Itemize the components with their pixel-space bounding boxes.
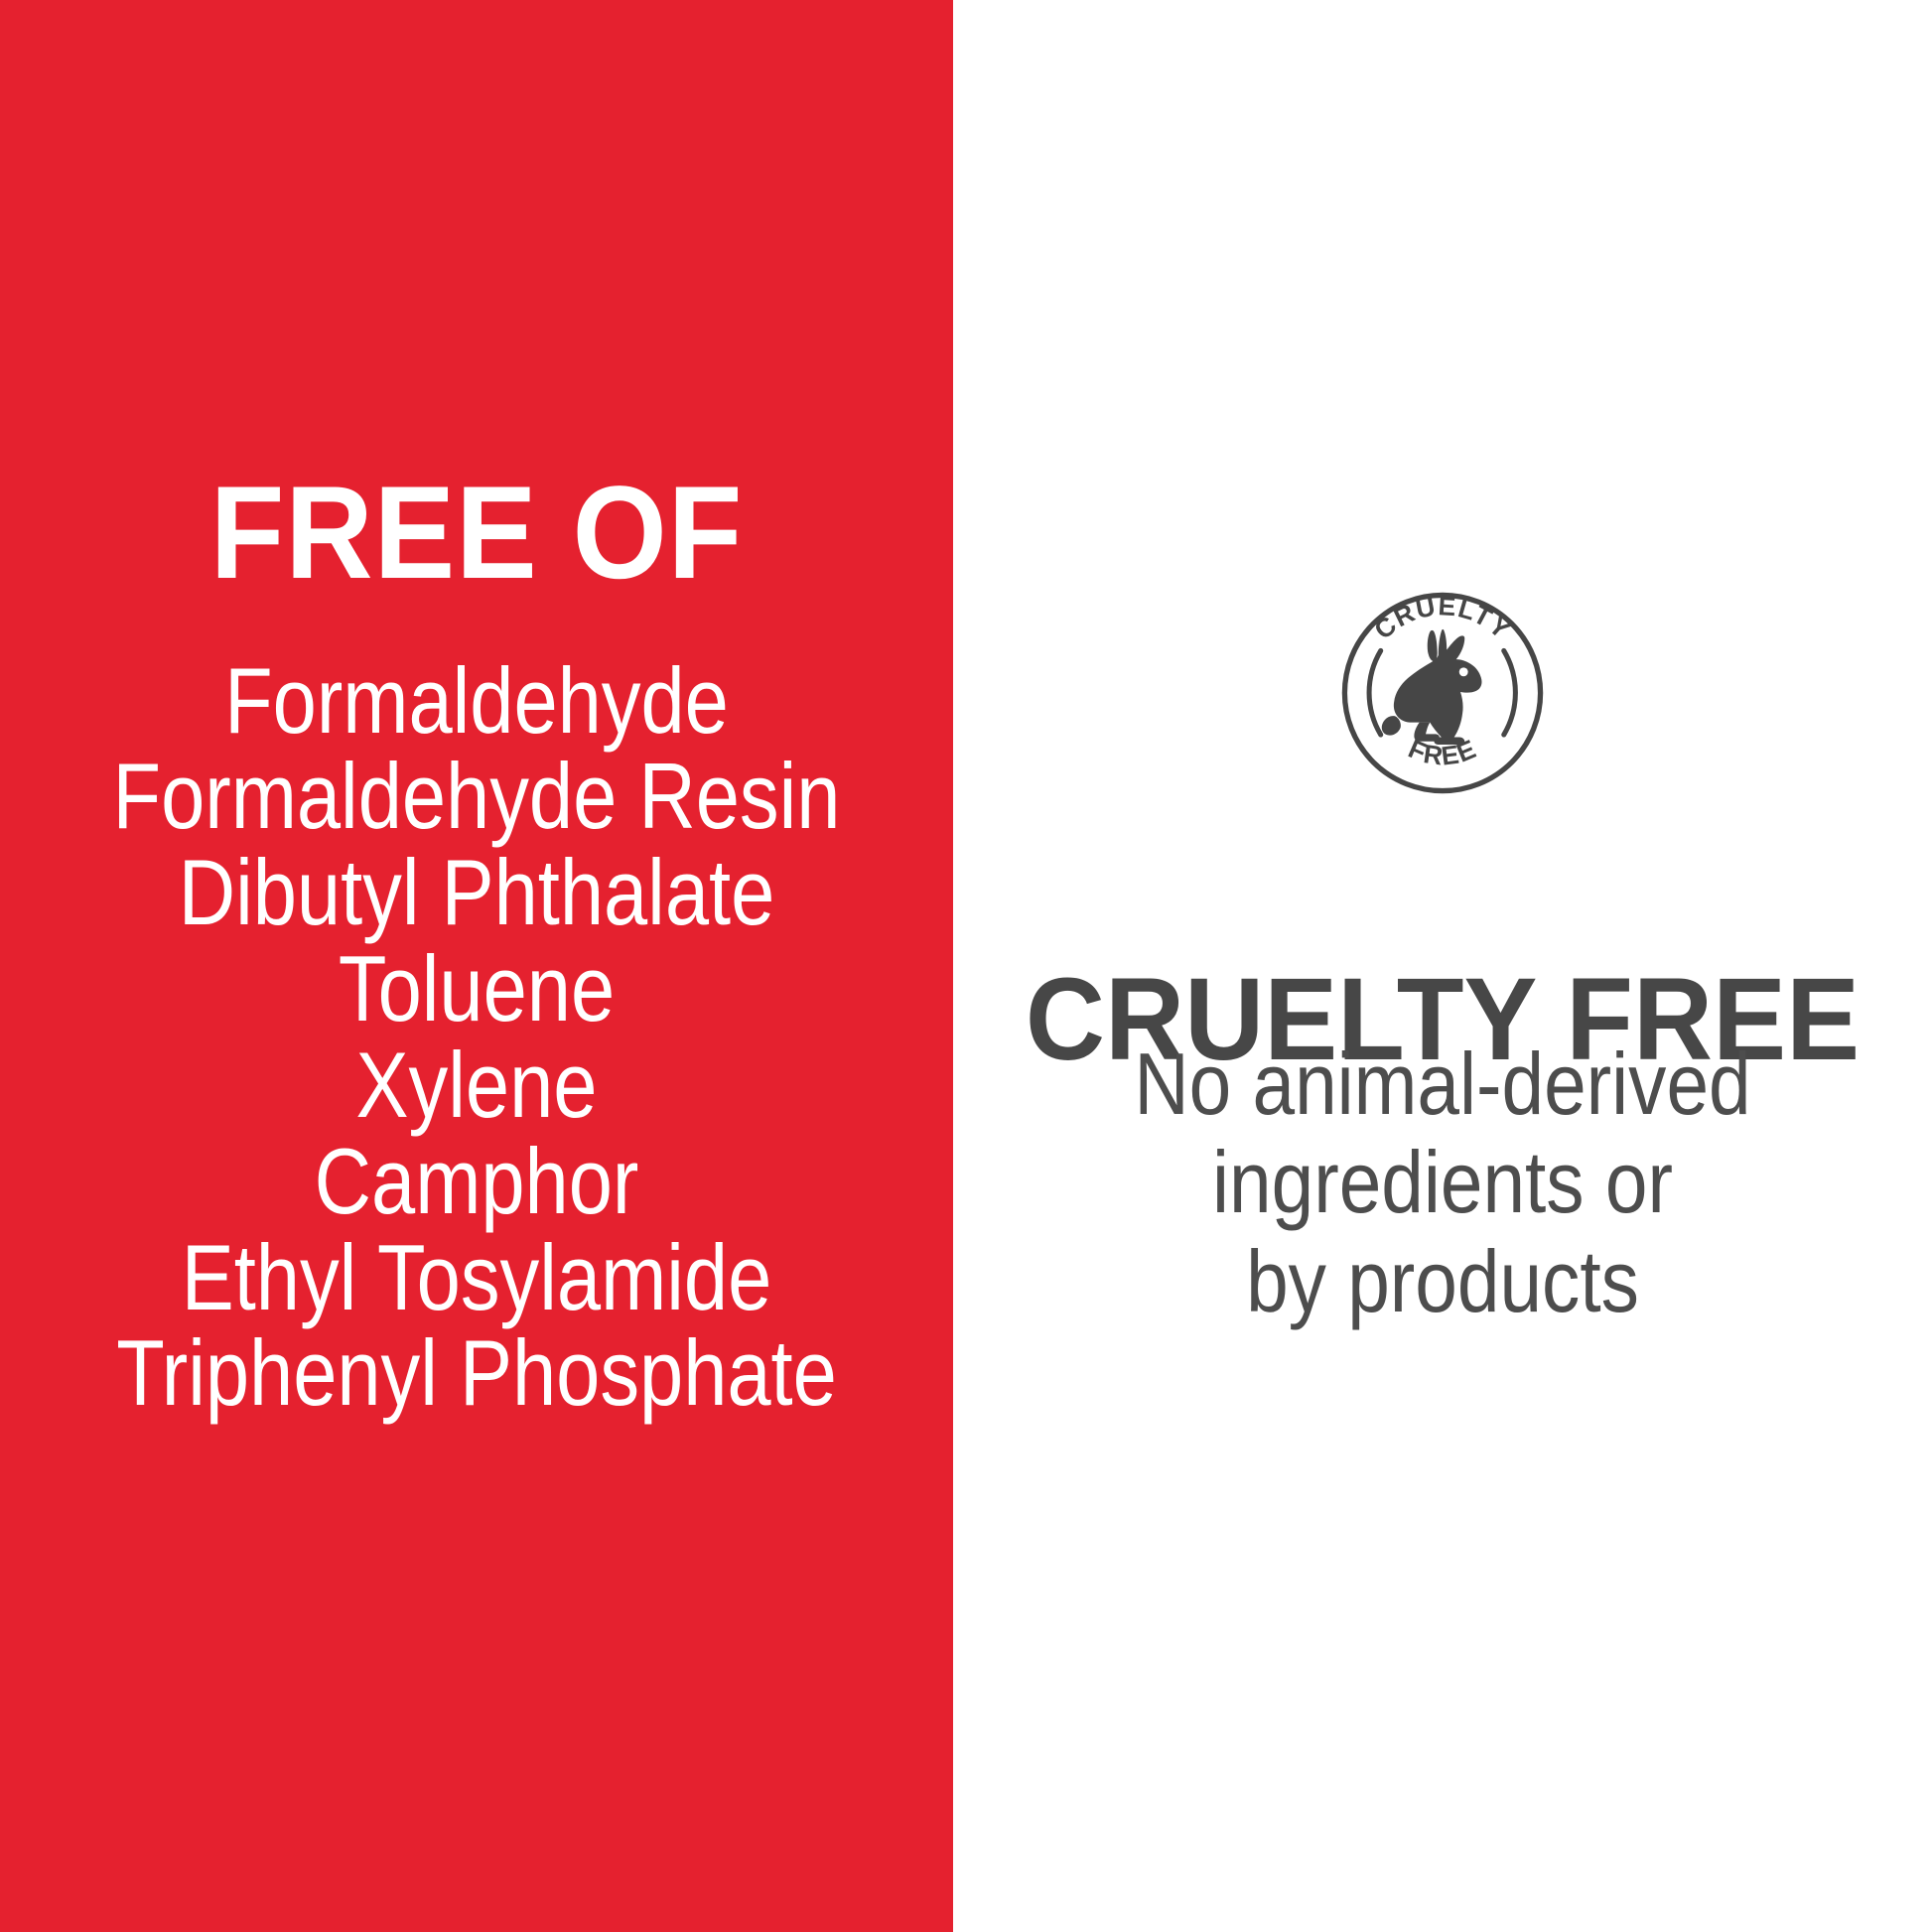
description-line: by products	[1017, 1232, 1868, 1330]
list-item: Formaldehyde Resin	[73, 749, 879, 845]
description-line: ingredients or	[1017, 1133, 1868, 1231]
free-of-content: FREE OF Formaldehyde Formaldehyde Resin …	[0, 467, 953, 1422]
cruelty-free-description: No animal-derived ingredients or by prod…	[953, 1035, 1932, 1330]
list-item: Toluene	[73, 941, 879, 1037]
product-claims-infographic: FREE OF Formaldehyde Formaldehyde Resin …	[0, 0, 1932, 1932]
rabbit-eye	[1459, 667, 1468, 676]
cruelty-free-badge: CRUELTY FREE	[953, 588, 1932, 798]
cruelty-free-panel: CRUELTY FREE	[953, 0, 1932, 1932]
list-item: Dibutyl Phthalate	[73, 845, 879, 941]
list-item: Triphenyl Phosphate	[73, 1325, 879, 1422]
list-item: Formaldehyde	[73, 653, 879, 750]
free-of-panel: FREE OF Formaldehyde Formaldehyde Resin …	[0, 0, 953, 1932]
list-item: Xylene	[73, 1037, 879, 1134]
list-item: Camphor	[73, 1134, 879, 1230]
list-item: Ethyl Tosylamide	[73, 1230, 879, 1326]
description-line: No animal-derived	[1017, 1035, 1868, 1133]
cruelty-free-rabbit-seal-icon: CRUELTY FREE	[1337, 588, 1548, 798]
excluded-ingredient-list: Formaldehyde Formaldehyde Resin Dibutyl …	[0, 653, 953, 1423]
free-of-title: FREE OF	[38, 467, 914, 602]
